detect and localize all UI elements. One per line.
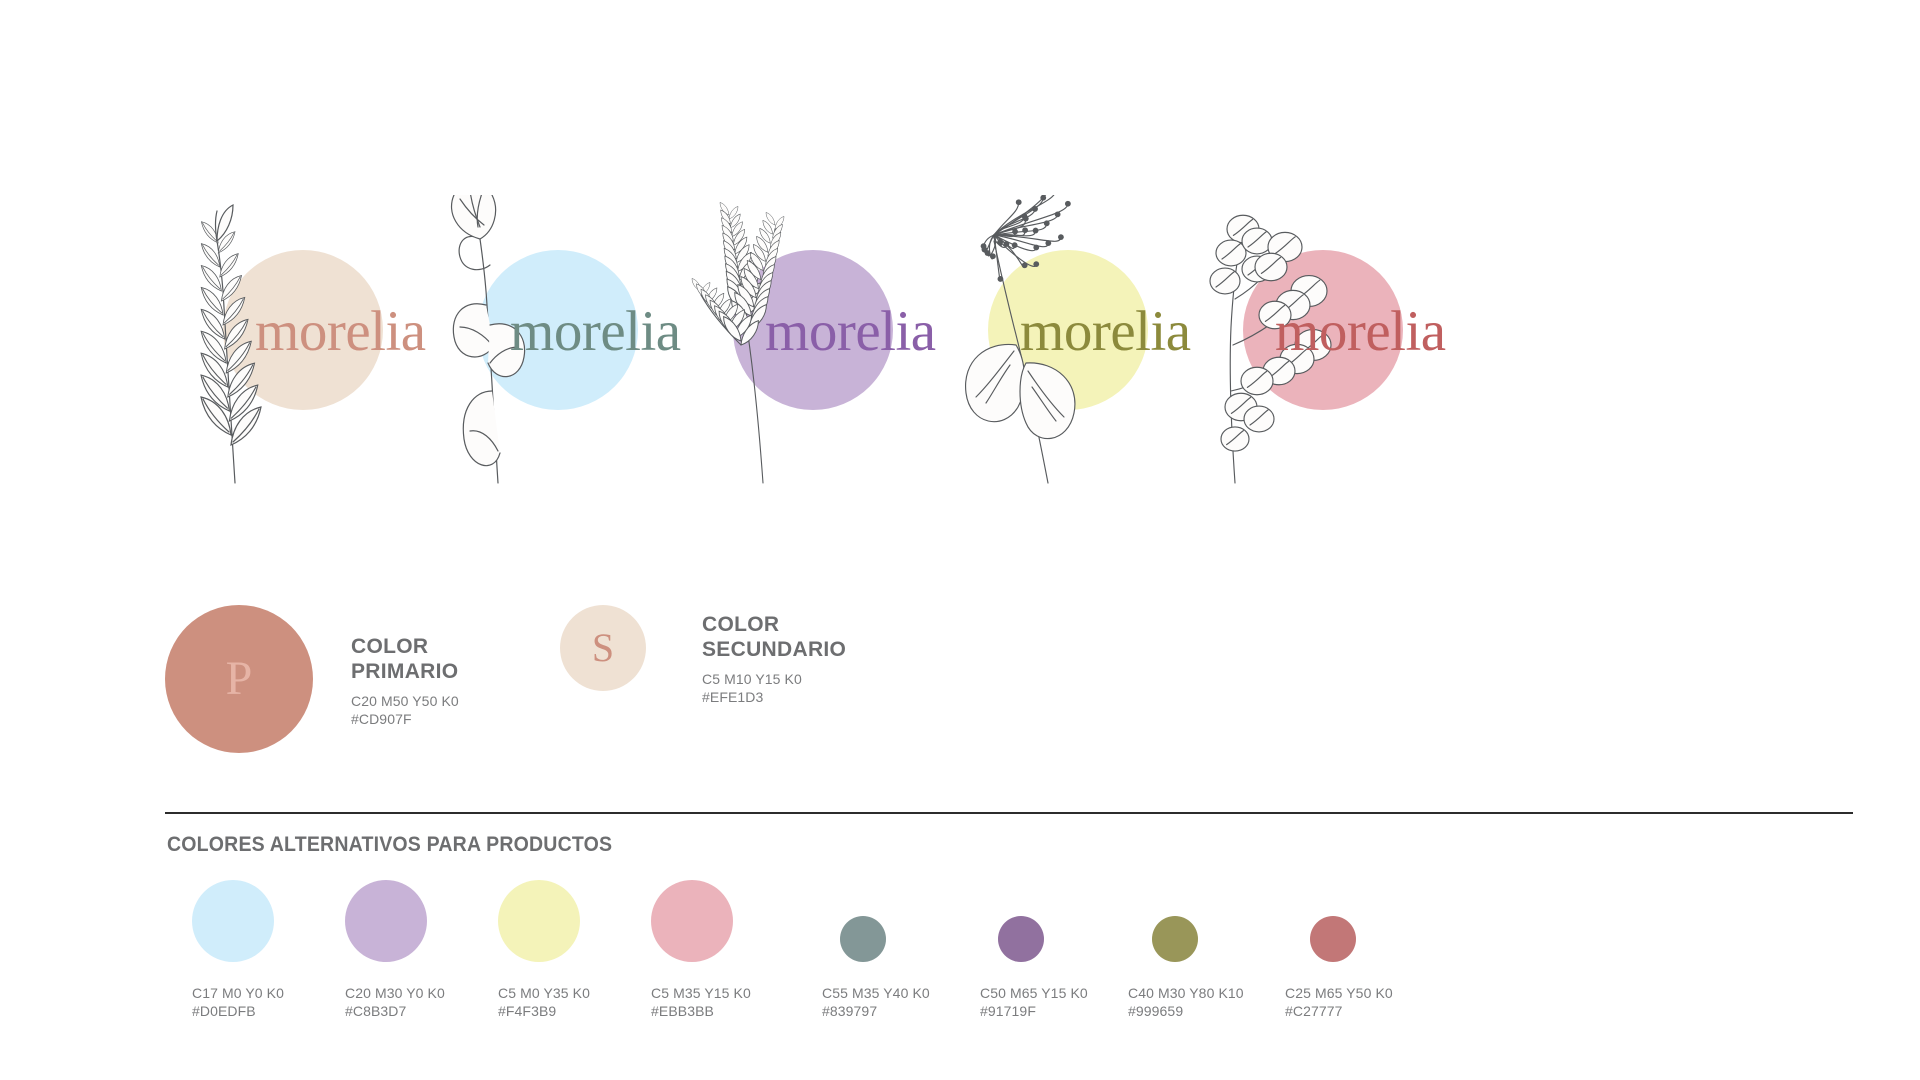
brand-color-text: COLOR SECUNDARIOC5 M10 Y15 K0#EFE1D3 (702, 613, 846, 706)
alt-color-cmyk: C17 M0 Y0 K0 (192, 984, 284, 1002)
alt-color-label: C5 M35 Y15 K0#EBB3BB (651, 984, 751, 1021)
logo-wordmark: morelia (765, 303, 936, 360)
alt-color-cmyk: C40 M30 Y80 K10 (1128, 984, 1244, 1002)
alt-color-hex: #D0EDFB (192, 1002, 284, 1020)
brand-color-entry: PCOLOR PRIMARIOC20 M50 Y50 K0#CD907F (165, 605, 459, 753)
alt-colors-heading: COLORES ALTERNATIVOS PARA PRODUCTOS (167, 833, 612, 857)
alt-color-label: C5 M0 Y35 K0#F4F3B9 (498, 984, 590, 1021)
alt-color-label: C50 M65 Y15 K0#91719F (980, 984, 1088, 1021)
alt-color-swatch (498, 880, 580, 962)
brand-color-swatch: S (560, 605, 646, 691)
logo-lockup: morelia (1185, 195, 1515, 485)
alt-color-cmyk: C25 M65 Y50 K0 (1285, 984, 1393, 1002)
alt-color-cmyk: C50 M65 Y15 K0 (980, 984, 1088, 1002)
alt-color-hex: #C8B3D7 (345, 1002, 445, 1020)
alt-color-cmyk: C5 M35 Y15 K0 (651, 984, 751, 1002)
alt-color-swatch (651, 880, 733, 962)
alt-color-hex: #839797 (822, 1002, 930, 1020)
brand-color-entry: SCOLOR SECUNDARIOC5 M10 Y15 K0#EFE1D3 (560, 605, 846, 706)
alt-color-label: C17 M0 Y0 K0#D0EDFB (192, 984, 284, 1021)
alt-color-label: C40 M30 Y80 K10#999659 (1128, 984, 1244, 1021)
alt-colors-row: C17 M0 Y0 K0#D0EDFBC20 M30 Y0 K0#C8B3D7C… (0, 880, 1920, 1040)
logo-wordmark: morelia (255, 303, 426, 360)
alt-color-swatch (998, 916, 1044, 962)
brand-color-cmyk: C20 M50 Y50 K0 (351, 692, 459, 710)
brand-color-text: COLOR PRIMARIOC20 M50 Y50 K0#CD907F (351, 635, 459, 728)
logo-wordmark: morelia (510, 303, 681, 360)
brand-color-initial: S (592, 628, 614, 668)
alt-color-cmyk: C20 M30 Y0 K0 (345, 984, 445, 1002)
alt-color-swatch (840, 916, 886, 962)
logo-variants-row: morelia morelia (0, 195, 1920, 485)
alt-color-swatch (192, 880, 274, 962)
brand-color-cmyk: C5 M10 Y15 K0 (702, 670, 846, 688)
alt-color-cmyk: C55 M35 Y40 K0 (822, 984, 930, 1002)
alt-color-swatch (1310, 916, 1356, 962)
alt-color-hex: #C27777 (1285, 1002, 1393, 1020)
brand-color-title: COLOR SECUNDARIO (702, 613, 846, 663)
alt-color-swatch (1152, 916, 1198, 962)
alt-color-hex: #F4F3B9 (498, 1002, 590, 1020)
brand-color-hex: #CD907F (351, 710, 459, 728)
brand-color-title: COLOR PRIMARIO (351, 635, 459, 685)
alt-color-hex: #91719F (980, 1002, 1088, 1020)
alt-color-label: C20 M30 Y0 K0#C8B3D7 (345, 984, 445, 1021)
alt-color-label: C25 M65 Y50 K0#C27777 (1285, 984, 1393, 1021)
brand-colors-section: PCOLOR PRIMARIOC20 M50 Y50 K0#CD907FSCOL… (0, 605, 1920, 745)
brand-color-swatch: P (165, 605, 313, 753)
section-divider (165, 812, 1853, 814)
brand-color-initial: P (226, 655, 253, 703)
alt-color-swatch (345, 880, 427, 962)
logo-wordmark: morelia (1020, 303, 1191, 360)
alt-color-hex: #999659 (1128, 1002, 1244, 1020)
logo-wordmark: morelia (1275, 303, 1446, 360)
alt-color-cmyk: C5 M0 Y35 K0 (498, 984, 590, 1002)
alt-color-label: C55 M35 Y40 K0#839797 (822, 984, 930, 1021)
brand-color-hex: #EFE1D3 (702, 688, 846, 706)
alt-color-hex: #EBB3BB (651, 1002, 751, 1020)
